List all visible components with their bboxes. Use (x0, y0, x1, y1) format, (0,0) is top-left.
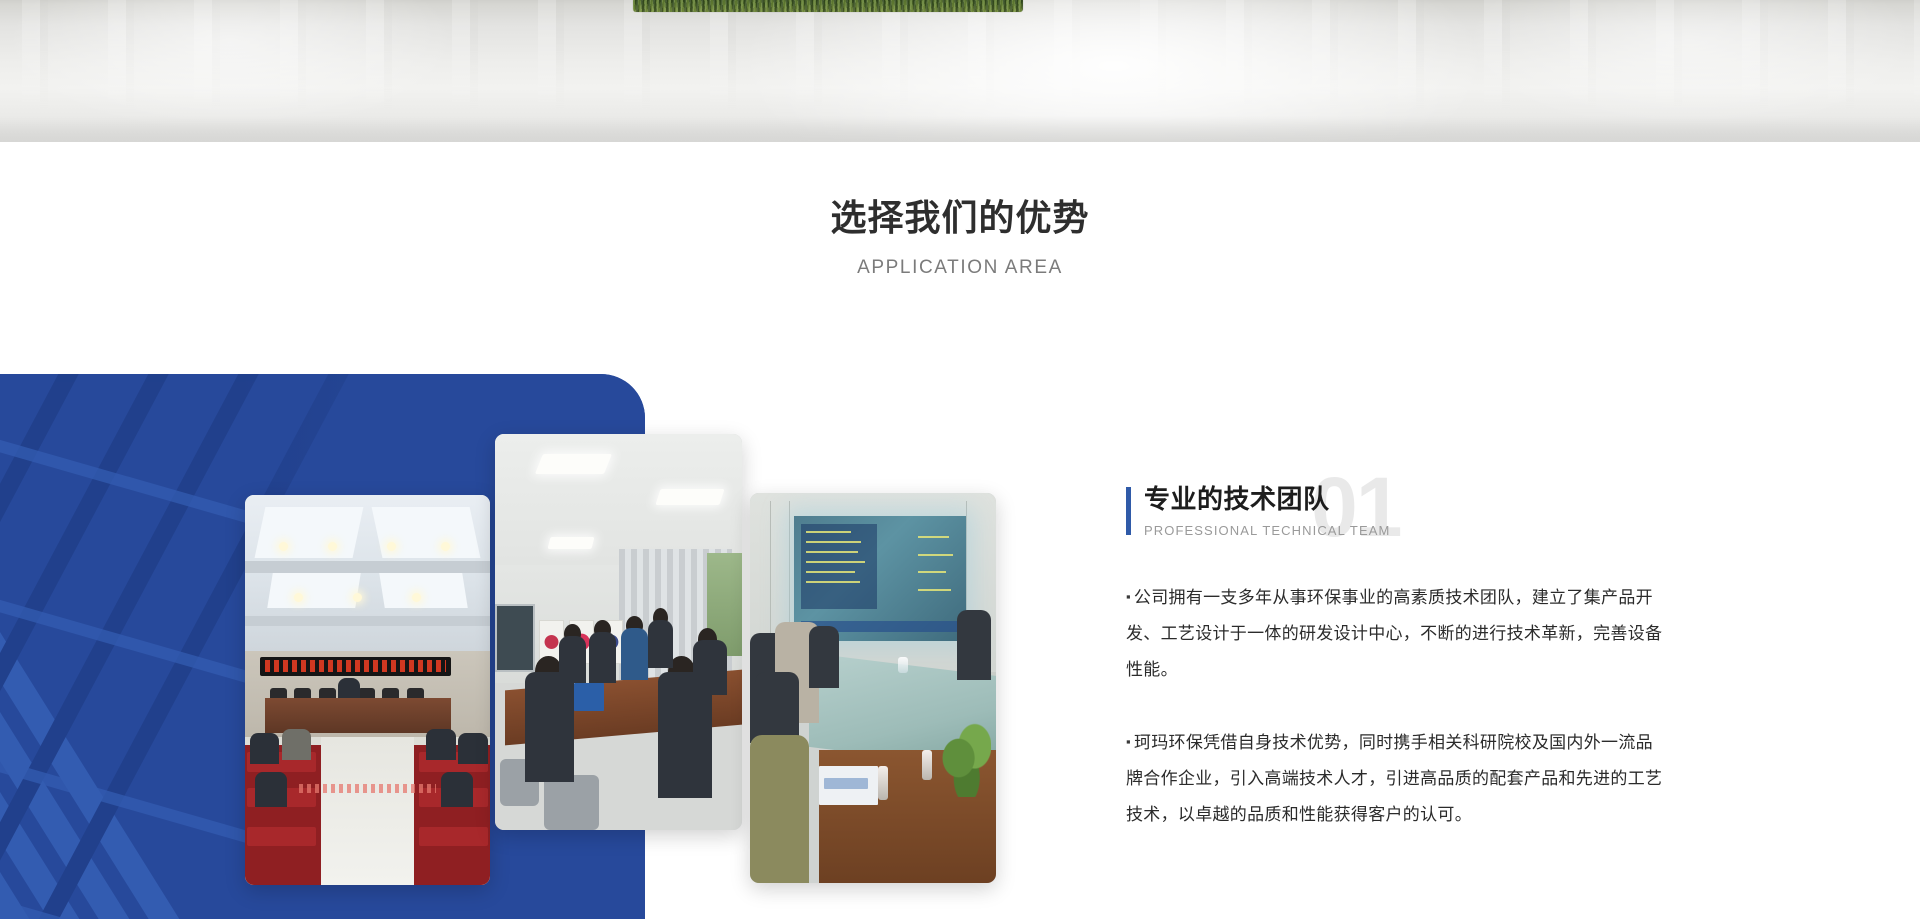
feature-paragraph-1: ▪公司拥有一支多年从事环保事业的高素质技术团队，建立了集产品开发、工艺设计于一体… (1126, 579, 1666, 688)
banner-bottom-fade (0, 116, 1920, 142)
page-subtitle: APPLICATION AREA (0, 257, 1920, 279)
technical-review-scene (750, 493, 996, 883)
grass-field-photo (633, 0, 1023, 12)
lecture-hall-scene (245, 495, 490, 885)
feature-content: 01 专业的技术团队 PROFESSIONAL TECHNICAL TEAM ▪… (1126, 483, 1666, 833)
section-header: 选择我们的优势 APPLICATION AREA (0, 196, 1920, 279)
feature-paragraph-2: ▪珂玛环保凭借自身技术优势，同时携手相关科研院校及国内外一流品牌合作企业，引入高… (1126, 724, 1666, 833)
feature-heading-group: 专业的技术团队 PROFESSIONAL TECHNICAL TEAM (1126, 483, 1666, 538)
feature-paragraph-1-text: 公司拥有一支多年从事环保事业的高素质技术团队，建立了集产品开发、工艺设计于一体的… (1126, 588, 1662, 679)
feature-title-en: PROFESSIONAL TECHNICAL TEAM (1144, 523, 1666, 538)
gallery-photo-lecture-hall[interactable] (245, 495, 490, 885)
conference-room-scene (495, 434, 742, 830)
page-root: 选择我们的优势 APPLICATION AREA (0, 0, 1920, 919)
page-title: 选择我们的优势 (0, 196, 1920, 239)
gallery-photo-conference-meeting[interactable] (495, 434, 742, 830)
gallery-photo-technical-review[interactable] (750, 493, 996, 883)
bullet-marker: ▪ (1126, 589, 1131, 604)
feature-paragraph-2-text: 珂玛环保凭借自身技术优势，同时携手相关科研院校及国内外一流品牌合作企业，引入高端… (1126, 733, 1662, 824)
hero-banner (0, 0, 1920, 142)
feature-title-cn: 专业的技术团队 (1144, 483, 1666, 516)
bullet-marker: ▪ (1126, 734, 1131, 749)
